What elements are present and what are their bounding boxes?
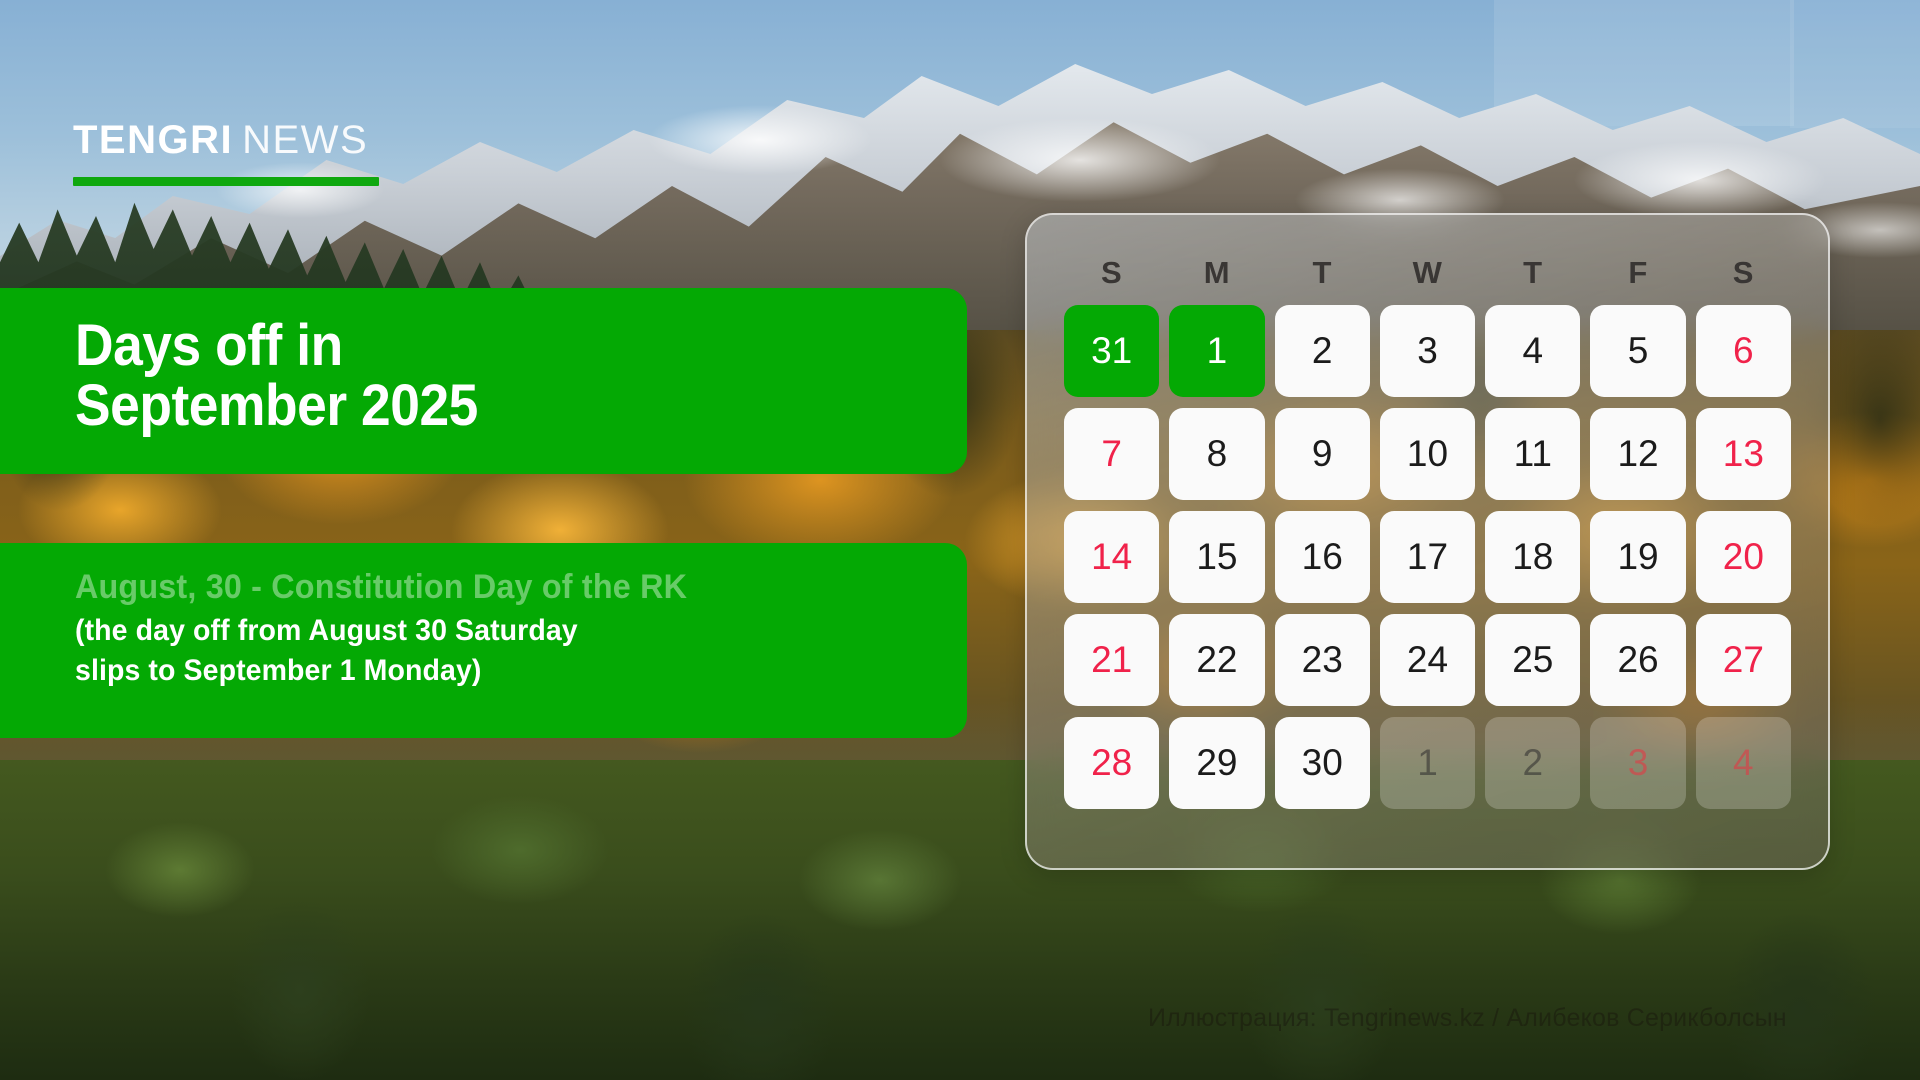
weekday-header: M xyxy=(1169,255,1264,291)
calendar-day-cell[interactable]: 2 xyxy=(1275,305,1370,397)
image-credit: Иллюстрация: Tengrinews.kz / Алибеков Се… xyxy=(1148,1004,1787,1033)
calendar-day-cell[interactable]: 26 xyxy=(1590,614,1685,706)
calendar-week: 31123456 xyxy=(1064,305,1791,397)
weekday-header: S xyxy=(1064,255,1159,291)
calendar-day-cell[interactable]: 17 xyxy=(1380,511,1475,603)
calendar-week: 21222324252627 xyxy=(1064,614,1791,706)
poster-canvas: TENGRI NEWS Days off in September 2025 A… xyxy=(0,0,1920,1080)
subtitle-panel: August, 30 - Constitution Day of the RK … xyxy=(0,543,967,738)
calendar-day-cell[interactable]: 13 xyxy=(1696,408,1791,500)
calendar-day-cell[interactable]: 27 xyxy=(1696,614,1791,706)
calendar-day-cell[interactable]: 8 xyxy=(1169,408,1264,500)
calendar-day-cell[interactable]: 22 xyxy=(1169,614,1264,706)
calendar-day-cell[interactable]: 24 xyxy=(1380,614,1475,706)
weekday-header-row: SMTWTFS xyxy=(1064,255,1791,291)
weekday-header: T xyxy=(1275,255,1370,291)
logo-word-tengri: TENGRI xyxy=(73,118,233,163)
logo-underline-bar xyxy=(73,177,379,186)
calendar-day-cell[interactable]: 4 xyxy=(1485,305,1580,397)
calendar-day-cell[interactable]: 19 xyxy=(1590,511,1685,603)
calendar-card: SMTWTFS 31123456789101112131415161718192… xyxy=(1025,213,1830,870)
calendar-day-cell[interactable]: 3 xyxy=(1590,717,1685,809)
headline-panel: Days off in September 2025 xyxy=(0,288,967,474)
calendar-day-cell[interactable]: 30 xyxy=(1275,717,1370,809)
weekday-header: F xyxy=(1590,255,1685,291)
calendar-day-cell[interactable]: 28 xyxy=(1064,717,1159,809)
calendar-week-rows: 3112345678910111213141516171819202122232… xyxy=(1064,305,1791,809)
calendar-day-cell[interactable]: 29 xyxy=(1169,717,1264,809)
weekday-header: S xyxy=(1696,255,1791,291)
calendar-day-cell[interactable]: 31 xyxy=(1064,305,1159,397)
calendar-day-cell[interactable]: 10 xyxy=(1380,408,1475,500)
calendar-day-cell[interactable]: 5 xyxy=(1590,305,1685,397)
calendar-day-cell[interactable]: 2 xyxy=(1485,717,1580,809)
calendar-day-cell[interactable]: 20 xyxy=(1696,511,1791,603)
calendar-day-cell[interactable]: 4 xyxy=(1696,717,1791,809)
calendar-day-cell[interactable]: 1 xyxy=(1169,305,1264,397)
calendar-day-cell[interactable]: 16 xyxy=(1275,511,1370,603)
calendar-day-cell[interactable]: 25 xyxy=(1485,614,1580,706)
calendar-day-cell[interactable]: 14 xyxy=(1064,511,1159,603)
calendar-week: 78910111213 xyxy=(1064,408,1791,500)
holiday-name-text: August, 30 - Constitution Day of the RK xyxy=(75,567,687,608)
calendar-day-cell[interactable]: 3 xyxy=(1380,305,1475,397)
weekday-header: T xyxy=(1485,255,1580,291)
calendar-day-cell[interactable]: 6 xyxy=(1696,305,1791,397)
logo-word-news: NEWS xyxy=(242,118,368,163)
calendar-day-cell[interactable]: 21 xyxy=(1064,614,1159,706)
calendar-day-cell[interactable]: 12 xyxy=(1590,408,1685,500)
tengrinews-logo[interactable]: TENGRI NEWS xyxy=(73,118,368,163)
calendar-day-cell[interactable]: 23 xyxy=(1275,614,1370,706)
weekday-header: W xyxy=(1380,255,1475,291)
calendar-day-cell[interactable]: 15 xyxy=(1169,511,1264,603)
calendar-day-cell[interactable]: 11 xyxy=(1485,408,1580,500)
calendar-week: 14151617181920 xyxy=(1064,511,1791,603)
calendar-day-cell[interactable]: 9 xyxy=(1275,408,1370,500)
calendar-day-cell[interactable]: 7 xyxy=(1064,408,1159,500)
calendar-body: SMTWTFS 31123456789101112131415161718192… xyxy=(1027,215,1828,868)
calendar-day-cell[interactable]: 18 xyxy=(1485,511,1580,603)
page-title: Days off in September 2025 xyxy=(75,316,478,435)
calendar-day-cell[interactable]: 1 xyxy=(1380,717,1475,809)
holiday-note-text: (the day off from August 30 Saturday sli… xyxy=(75,611,578,690)
calendar-week: 2829301234 xyxy=(1064,717,1791,809)
